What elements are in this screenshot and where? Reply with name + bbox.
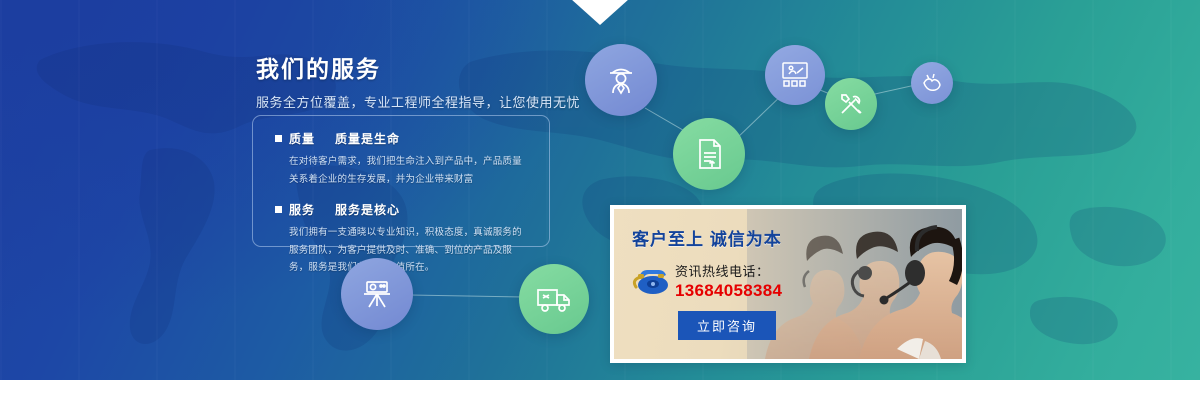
engineer-icon	[601, 60, 641, 100]
hotline-row: 资讯热线电话： 13684058384	[632, 261, 842, 302]
delivery-truck-icon	[534, 283, 574, 315]
service-point-heading: 质量 质量是生命	[275, 130, 531, 147]
tools-icon	[836, 89, 866, 119]
service-copy: 我们的服务 服务全方位覆盖，专业工程师全程指导，让您使用无忧	[256, 56, 556, 111]
service-point-title: 服务是核心	[335, 201, 400, 218]
node-tools[interactable]	[825, 78, 877, 130]
bullet-square-icon	[275, 135, 282, 142]
contact-card-text: 客户至上 诚信为本	[632, 225, 842, 340]
service-point-title: 质量是生命	[335, 130, 400, 147]
page-title: 我们的服务	[256, 56, 556, 82]
node-training[interactable]	[765, 45, 825, 105]
node-survey[interactable]	[341, 258, 413, 330]
service-point-heading: 服务 服务是核心	[275, 201, 531, 218]
consult-now-button[interactable]: 立即咨询	[678, 311, 776, 340]
page-subtitle: 服务全方位覆盖，专业工程师全程指导，让您使用无忧	[256, 92, 556, 111]
node-document[interactable]	[673, 118, 745, 190]
gradient-banner: 我们的服务 服务全方位覆盖，专业工程师全程指导，让您使用无忧 质量 质量是生命 …	[0, 0, 1200, 380]
chevron-down-notch-icon	[571, 0, 629, 29]
card-slogan: 客户至上 诚信为本	[632, 225, 842, 250]
service-points-panel: 质量 质量是生命 在对待客户需求，我们把生命注入到产品中，产品质量关系着企业的生…	[252, 115, 550, 247]
hotline-number: 13684058384	[675, 280, 782, 302]
node-engineer[interactable]	[585, 44, 657, 116]
service-point-tag: 质量	[289, 130, 315, 147]
service-point-quality: 质量 质量是生命 在对待客户需求，我们把生命注入到产品中，产品质量关系着企业的生…	[275, 130, 531, 188]
handshake-icon	[920, 71, 944, 95]
training-board-icon	[778, 59, 812, 91]
document-icon	[690, 134, 728, 174]
hotline-label: 资讯热线电话：	[675, 261, 782, 280]
service-point-tag: 服务	[289, 201, 315, 218]
service-banner-page: 我们的服务 服务全方位覆盖，专业工程师全程指导，让您使用无忧 质量 质量是生命 …	[0, 0, 1200, 400]
node-delivery[interactable]	[519, 264, 589, 334]
bullet-square-icon	[275, 206, 282, 213]
contact-card: 客户至上 诚信为本	[610, 205, 966, 363]
telephone-icon	[632, 263, 672, 297]
service-point-body: 在对待客户需求，我们把生命注入到产品中，产品质量关系着企业的生存发展，并为企业带…	[275, 153, 531, 188]
survey-tripod-icon	[357, 274, 397, 314]
service-point-service: 服务 服务是核心 我们拥有一支通晓以专业知识，积极态度，真诚服务的服务团队，为客…	[275, 201, 531, 277]
node-handshake[interactable]	[911, 62, 953, 104]
